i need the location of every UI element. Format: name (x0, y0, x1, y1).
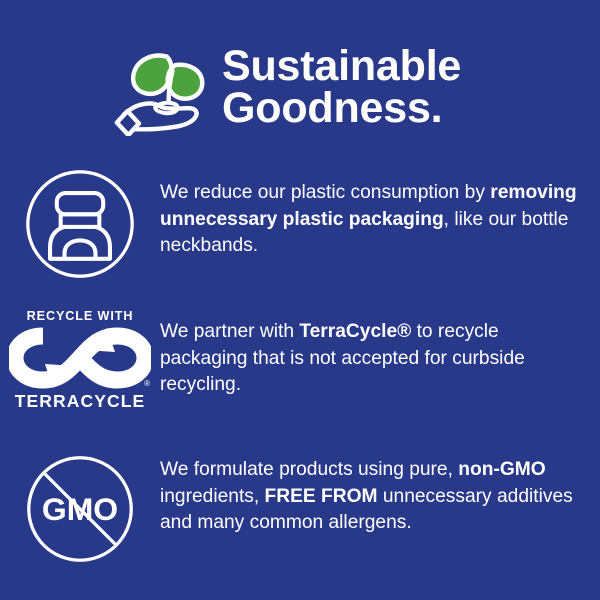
terracycle-infinity-icon: ® (9, 326, 151, 390)
registered-mark-icon: ® (144, 380, 150, 388)
terracycle-logo-top-text: RECYCLE WITH (27, 309, 134, 323)
text-segment: We formulate products using pure, (160, 459, 458, 480)
text-segment-bold: TerraCycle® (299, 321, 411, 342)
text-segment-bold: non-GMO (458, 459, 545, 480)
feature-row-bottle: We reduce our plastic consumption by rem… (0, 158, 600, 303)
header: SustainableGoodness. (0, 0, 600, 150)
text-segment-bold: FREE FROM (265, 486, 378, 507)
feature-text-gmo: We formulate products using pure, non-GM… (160, 445, 600, 537)
terracycle-logo-bottom-text: TERRACYCLE (15, 391, 146, 412)
text-segment: ingredients, (160, 486, 265, 507)
feature-row-gmo: GMO We formulate products using pure, no… (0, 445, 600, 595)
text-segment: We partner with (160, 321, 299, 342)
no-gmo-circle-slash-icon: GMO (0, 445, 160, 567)
page-title: SustainableGoodness. (222, 46, 461, 129)
terracycle-logo: RECYCLE WITH ® TERRACYCLE (0, 303, 160, 412)
feature-text-terracycle: We partner with TerraCycle® to recycle p… (160, 303, 600, 399)
text-segment: We reduce our plastic consumption by (160, 182, 490, 203)
page-title-line-2: Goodness. (222, 84, 442, 132)
bottle-neckband-circle-icon (0, 158, 160, 282)
gmo-icon-label: GMO (42, 491, 118, 527)
feature-row-terracycle: RECYCLE WITH ® TERRACYCLE We partner wit… (0, 303, 600, 445)
feature-text-bottle: We reduce our plastic consumption by rem… (160, 158, 600, 260)
hand-holding-sprout-icon (112, 44, 208, 136)
feature-rows: We reduce our plastic consumption by rem… (0, 158, 600, 595)
